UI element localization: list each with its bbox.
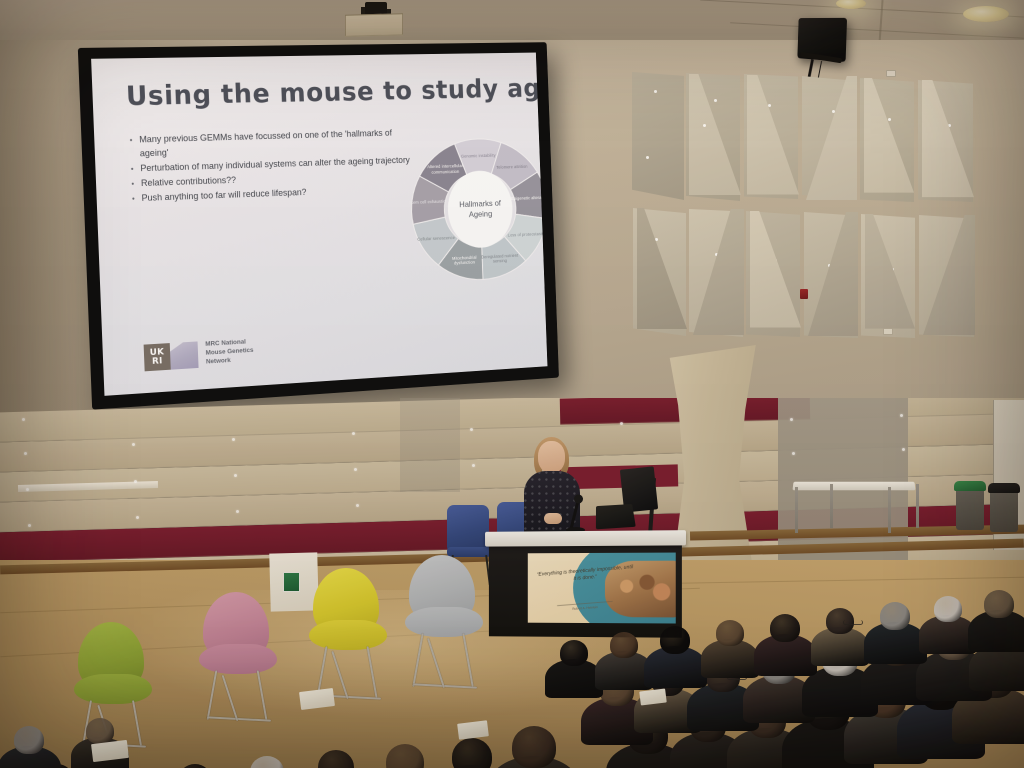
slide-title: Using the mouse to study ageing xyxy=(125,73,547,112)
audience-member-head xyxy=(386,744,424,768)
bin-lid xyxy=(988,483,1020,493)
logo-line-3: Network xyxy=(206,356,254,368)
acoustic-panel xyxy=(632,72,684,200)
panel-fixing-dot xyxy=(234,474,237,477)
panel-fixing-dot xyxy=(22,418,25,421)
acoustic-panel-array xyxy=(628,66,1020,386)
panel-fixing-dot xyxy=(472,464,475,467)
panel-fixing-dot xyxy=(232,438,235,441)
panel-fixing-dot xyxy=(620,422,623,425)
audience-member-head xyxy=(716,620,744,646)
slide-bullet-list: • Many previous GEMMs have focussed on o… xyxy=(129,127,411,208)
panel-fixing-dot xyxy=(356,504,359,507)
power-socket[interactable] xyxy=(883,328,893,335)
audience-member-head xyxy=(250,756,284,768)
presenter-head xyxy=(538,441,565,473)
panel-fixing-dot xyxy=(24,452,27,455)
audience-member-head xyxy=(934,596,962,622)
audience-member-head xyxy=(452,738,492,768)
bullet-marker: • xyxy=(132,192,135,206)
donut-segment-label: Epigenetic alterations xyxy=(511,195,548,202)
ukri-logo-shape xyxy=(170,341,199,369)
power-socket[interactable] xyxy=(886,70,896,77)
audience-handout xyxy=(457,720,489,740)
ukri-mrc-logo: UK RI MRC National Mouse Genetics Networ… xyxy=(144,338,254,371)
donut-segment-label: Altered intercellular communication xyxy=(425,163,466,175)
audience-member-head xyxy=(318,750,354,768)
panel-fixing-dot xyxy=(902,448,905,451)
panel-fixing-dot xyxy=(352,432,355,435)
audience-member-head xyxy=(984,590,1014,618)
panel-fixing-dot xyxy=(790,418,793,421)
fire-alarm-icon xyxy=(800,289,808,299)
audience-member-head xyxy=(560,640,588,666)
panel-fixing-dot xyxy=(134,480,137,483)
logo-caption: MRC National Mouse Genetics Network xyxy=(205,338,254,367)
side-table xyxy=(792,482,915,490)
panel-fixing-dot xyxy=(354,468,357,471)
panel-fixing-dot xyxy=(26,488,29,491)
panel-fixing-dot xyxy=(792,452,795,455)
ukri-logo-icon: UK RI xyxy=(144,341,199,371)
slide-surface: Using the mouse to study ageing • Many p… xyxy=(91,53,547,396)
bullet-marker: • xyxy=(131,162,134,176)
bin-lid xyxy=(954,481,986,491)
ceiling-light xyxy=(963,6,1009,22)
bullet-marker: • xyxy=(129,134,133,161)
audience-member-head xyxy=(610,632,638,658)
lecture-theatre-photo: Using the mouse to study ageing • Many p… xyxy=(0,0,1024,768)
donut-segment-label: Mitochondrial dysfunction xyxy=(444,254,485,266)
donut-center-line2: Ageing xyxy=(469,209,493,220)
audience-member-head xyxy=(880,602,910,630)
panel-fixing-dot xyxy=(132,443,135,446)
audience-member-glasses-icon xyxy=(843,620,863,625)
projection-screen: Using the mouse to study ageing • Many p… xyxy=(78,42,559,409)
ukri-line-2: RI xyxy=(152,357,163,366)
audience-handout xyxy=(299,688,335,710)
audience-member-head xyxy=(660,626,690,654)
wall-grey-column xyxy=(400,398,460,492)
panel-fixing-dot xyxy=(236,510,239,513)
donut-segment-label: Deregulated nutrient sensing xyxy=(480,253,520,265)
panel-fixing-dot xyxy=(900,414,903,417)
audience-member-head xyxy=(86,718,114,744)
audience-member-head xyxy=(512,726,556,768)
audience xyxy=(0,520,1024,768)
bullet-marker: • xyxy=(131,177,134,191)
hallmarks-of-ageing-donut-chart: Hallmarks of Ageing Genomic instabilityT… xyxy=(407,125,548,296)
panel-fixing-dot xyxy=(136,516,139,519)
panel-fixing-dot xyxy=(470,428,473,431)
ukri-wordmark: UK RI xyxy=(144,343,171,371)
audience-member-head xyxy=(14,726,44,754)
audience-member-head xyxy=(770,614,800,642)
ceiling-projector xyxy=(345,13,403,37)
audience-member-head xyxy=(178,764,212,768)
